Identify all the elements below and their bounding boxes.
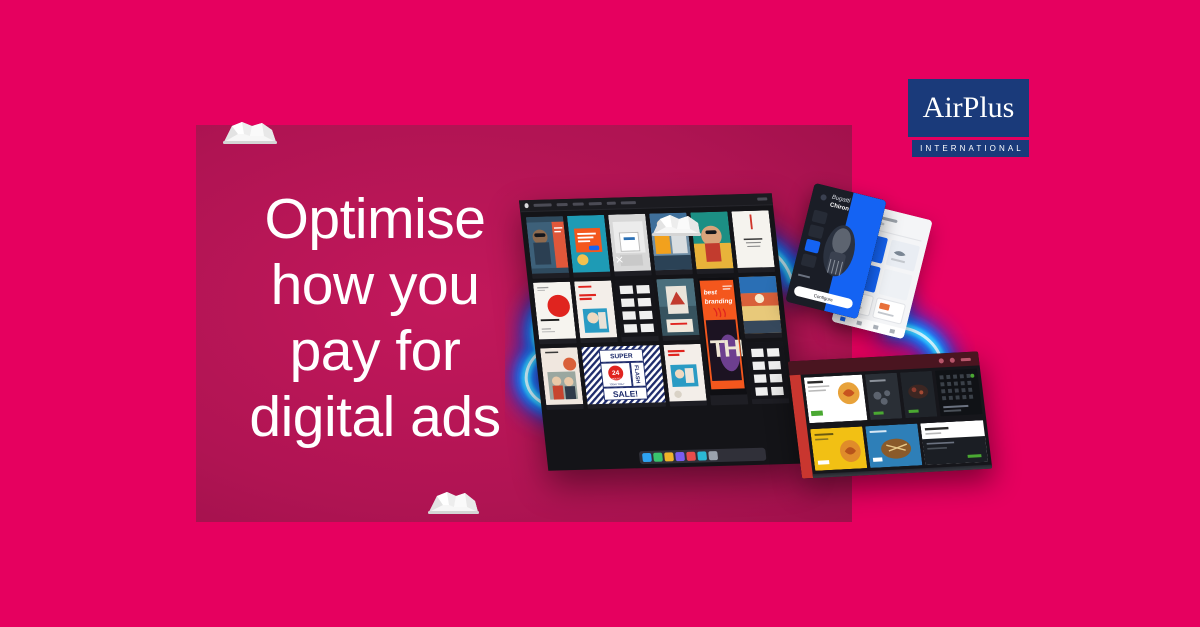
- table-row[interactable]: [608, 214, 652, 277]
- menu-item-view[interactable]: [589, 202, 602, 205]
- cloud-icon: [218, 112, 280, 146]
- menu-item-help[interactable]: [757, 197, 767, 200]
- cloud-icon: [424, 483, 482, 516]
- dock-app-7[interactable]: [708, 451, 718, 460]
- logo-secondary-box: INTERNATIONAL: [912, 140, 1029, 157]
- titlebar-dot-2[interactable]: [949, 357, 955, 362]
- svg-text:SALE!: SALE!: [612, 389, 638, 400]
- menu-item-go[interactable]: [607, 202, 616, 205]
- dock-app-5[interactable]: [686, 452, 696, 461]
- menu-item-window[interactable]: [621, 201, 636, 204]
- svg-text:24: 24: [612, 370, 620, 377]
- macos-dock[interactable]: [639, 448, 767, 464]
- list-item[interactable]: [900, 371, 937, 418]
- cloud-icon: [648, 206, 704, 238]
- titlebar-menu-icon[interactable]: [961, 357, 971, 361]
- table-row[interactable]: [656, 278, 700, 341]
- table-row[interactable]: [663, 344, 707, 407]
- svg-text:best: best: [703, 289, 718, 296]
- dock-app-4[interactable]: [675, 452, 685, 461]
- list-item[interactable]: [921, 420, 989, 465]
- keyboard-grid[interactable]: [935, 368, 983, 416]
- dock-app-2[interactable]: [653, 453, 663, 462]
- menu-item-edit[interactable]: [573, 203, 584, 206]
- table-row[interactable]: [739, 276, 783, 339]
- svg-text:HOURS: HOURS: [612, 377, 621, 380]
- table-row[interactable]: [567, 215, 611, 278]
- logo-secondary-text: INTERNATIONAL: [917, 145, 1024, 153]
- logo-primary-text: AirPlus: [923, 93, 1015, 123]
- table-row[interactable]: [574, 281, 618, 344]
- dock-app-3[interactable]: [664, 452, 674, 461]
- menu-item-file[interactable]: [556, 203, 567, 206]
- svg-text:branding: branding: [704, 298, 733, 306]
- svg-text:THICC: THICC: [709, 334, 747, 363]
- airplus-logo[interactable]: AirPlus INTERNATIONAL: [908, 79, 1029, 157]
- banner-canvas: best branding THICC: [0, 0, 1200, 627]
- dock-app-1[interactable]: [642, 453, 652, 462]
- titlebar-dot-1[interactable]: [938, 358, 944, 363]
- list-item[interactable]: [865, 373, 902, 420]
- table-row[interactable]: [746, 342, 790, 405]
- tablet-dashboard[interactable]: [788, 351, 993, 478]
- list-item[interactable]: [865, 424, 922, 468]
- table-row[interactable]: [540, 347, 584, 410]
- list-item[interactable]: [810, 426, 867, 470]
- table-row[interactable]: [615, 279, 659, 342]
- mobile-device-group: Bugatti Chiron Configure: [785, 188, 955, 338]
- page-title: Optimise how you pay for digital ads: [210, 186, 540, 450]
- dock-app-6[interactable]: [697, 451, 707, 460]
- list-item[interactable]: [804, 375, 868, 424]
- table-row[interactable]: [731, 210, 775, 273]
- svg-text:SUPER: SUPER: [610, 353, 633, 361]
- svg-text:TODAY ONLY: TODAY ONLY: [609, 383, 625, 386]
- logo-primary-box: AirPlus: [908, 79, 1029, 137]
- poster-flash-sale[interactable]: SUPER 24 HOURS TODAY ONLY FLASH SALE!: [581, 345, 666, 409]
